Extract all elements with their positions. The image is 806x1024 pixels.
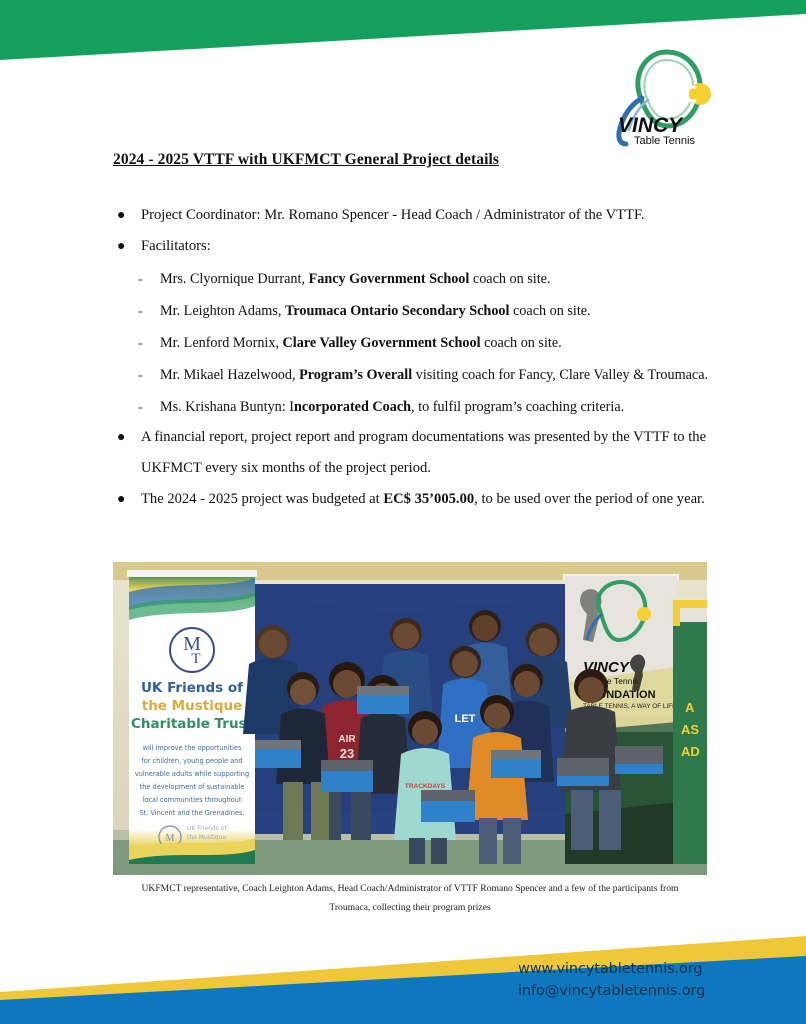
svg-text:UK Friends of: UK Friends of <box>141 680 243 696</box>
body-text: visiting coach for Fancy, Clare Valley &… <box>412 367 708 383</box>
sub-bullet-item: -Ms. Krishana Buntyn: Incorporated Coach… <box>113 393 713 422</box>
body-text: Project Coordinator: Mr. Romano Spencer … <box>141 207 645 223</box>
svg-text:the development of sustainable: the development of sustainable <box>140 783 245 791</box>
document-page: VINCY Table Tennis 2024 - 2025 VTTF with… <box>0 0 806 1024</box>
svg-text:T: T <box>191 651 200 667</box>
group-photo: M T UK Friends of the Mustique Charitabl… <box>113 562 707 875</box>
body-text: Ms. Krishana Buntyn: I <box>160 399 294 415</box>
svg-text:St. Vincent and the Grenadines: St. Vincent and the Grenadines. <box>139 809 244 817</box>
emphasis-text: Fancy Government School <box>309 271 470 287</box>
svg-text:LET: LET <box>455 713 476 725</box>
body-text: coach on site. <box>469 271 550 287</box>
sub-bullet-text: Mrs. Clyornique Durrant, Fancy Governmen… <box>160 271 551 287</box>
svg-text:the Mustique: the Mustique <box>142 698 243 714</box>
body-text: Facilitators: <box>141 238 211 254</box>
footer-contact-block: www.vincytabletennis.org info@vincytable… <box>518 958 705 1002</box>
photo-caption-line-1: UKFMCT representative, Coach Leighton Ad… <box>113 879 707 898</box>
svg-text:vulnerable adults while suppor: vulnerable adults while supporting <box>135 770 249 778</box>
svg-text:AIR: AIR <box>338 734 356 745</box>
svg-text:will improve the opportunities: will improve the opportunities <box>143 744 242 752</box>
body-text: Mr. Leighton Adams, <box>160 303 285 319</box>
bullet-item: ●A financial report, project report and … <box>113 422 713 484</box>
bullet-marker-icon: ● <box>117 484 125 515</box>
sub-bullet-item: -Mr. Mikael Hazelwood, Program’s Overall… <box>113 361 713 390</box>
sub-bullet-marker-icon: - <box>138 361 143 390</box>
body-text: A financial report, project report and p… <box>141 429 706 476</box>
body-text: , to fulfil program’s coaching criteria. <box>411 399 624 415</box>
body-text: Mr. Mikael Hazelwood, <box>160 367 299 383</box>
project-details-list: ●Project Coordinator: Mr. Romano Spencer… <box>113 200 713 515</box>
emphasis-text: ncorporated Coach <box>294 399 411 415</box>
bullet-marker-icon: ● <box>117 231 125 262</box>
svg-text:TRACKDAYS: TRACKDAYS <box>405 783 446 790</box>
photo-left-banner: M T UK Friends of the Mustique Charitabl… <box>127 570 257 864</box>
body-text: , to be used over the period of one year… <box>474 491 705 507</box>
facilitators-sublist: -Mrs. Clyornique Durrant, Fancy Governme… <box>113 265 713 422</box>
photo-green-board: A AS AD <box>667 596 707 864</box>
sub-bullet-marker-icon: - <box>138 393 143 422</box>
bullet-item: ●Project Coordinator: Mr. Romano Spencer… <box>113 200 713 231</box>
svg-text:for children, young people and: for children, young people and <box>141 757 242 765</box>
sub-bullet-marker-icon: - <box>138 297 143 326</box>
svg-text:the Mustique: the Mustique <box>187 834 226 841</box>
sub-bullet-item: -Mr. Leighton Adams, Troumaca Ontario Se… <box>113 297 713 326</box>
sub-bullet-marker-icon: - <box>138 265 143 294</box>
svg-text:AS: AS <box>681 722 699 737</box>
photo-caption-line-2: Troumaca, collecting their program prize… <box>113 898 707 917</box>
sub-bullet-text: Mr. Leighton Adams, Troumaca Ontario Sec… <box>160 303 591 319</box>
photo-caption: UKFMCT representative, Coach Leighton Ad… <box>113 879 707 917</box>
emphasis-text: Program’s Overall <box>299 367 412 383</box>
emphasis-text: Clare Valley Government School <box>283 335 481 351</box>
svg-text:AD: AD <box>681 744 700 759</box>
bullet-marker-icon: ● <box>117 422 125 453</box>
footer-email[interactable]: info@vincytabletennis.org <box>518 980 705 1002</box>
body-text: coach on site. <box>509 303 590 319</box>
footer-website[interactable]: www.vincytabletennis.org <box>518 958 705 980</box>
sub-bullet-item: -Mrs. Clyornique Durrant, Fancy Governme… <box>113 265 713 294</box>
emphasis-text: EC$ 35’005.00 <box>383 491 474 507</box>
svg-text:M: M <box>166 833 175 844</box>
body-text: Mrs. Clyornique Durrant, <box>160 271 309 287</box>
svg-text:A: A <box>685 700 695 715</box>
body-text: coach on site. <box>481 335 562 351</box>
body-text: Mr. Lenford Mornix, <box>160 335 283 351</box>
svg-text:Charitable Trust: Charitable Trust <box>131 716 254 732</box>
svg-text:UK Friends of: UK Friends of <box>187 825 227 832</box>
vincy-table-tennis-logo: VINCY Table Tennis <box>596 40 724 148</box>
bullet-text: Facilitators: <box>141 238 211 254</box>
bullet-text: A financial report, project report and p… <box>141 429 706 476</box>
sub-bullet-text: Mr. Lenford Mornix, Clare Valley Governm… <box>160 335 562 351</box>
svg-text:23: 23 <box>340 746 354 761</box>
page-title: 2024 - 2025 VTTF with UKFMCT General Pro… <box>113 151 499 169</box>
bullet-item: ●The 2024 - 2025 project was budgeted at… <box>113 484 713 515</box>
logo-wordmark-primary: VINCY <box>618 114 684 137</box>
bullet-text: The 2024 - 2025 project was budgeted at … <box>141 491 705 507</box>
svg-text:local communities throughout: local communities throughout <box>143 796 242 804</box>
emphasis-text: Troumaca Ontario Secondary School <box>285 303 510 319</box>
body-text: The 2024 - 2025 project was budgeted at <box>141 491 383 507</box>
sub-bullet-marker-icon: - <box>138 329 143 358</box>
bullet-item: ●Facilitators: <box>113 231 713 262</box>
bullet-marker-icon: ● <box>117 200 125 231</box>
logo-wordmark-secondary: Table Tennis <box>634 135 695 147</box>
sub-bullet-item: -Mr. Lenford Mornix, Clare Valley Govern… <box>113 329 713 358</box>
bullet-text: Project Coordinator: Mr. Romano Spencer … <box>141 207 645 223</box>
sub-bullet-text: Ms. Krishana Buntyn: Incorporated Coach,… <box>160 399 624 415</box>
sub-bullet-text: Mr. Mikael Hazelwood, Program’s Overall … <box>160 367 708 383</box>
